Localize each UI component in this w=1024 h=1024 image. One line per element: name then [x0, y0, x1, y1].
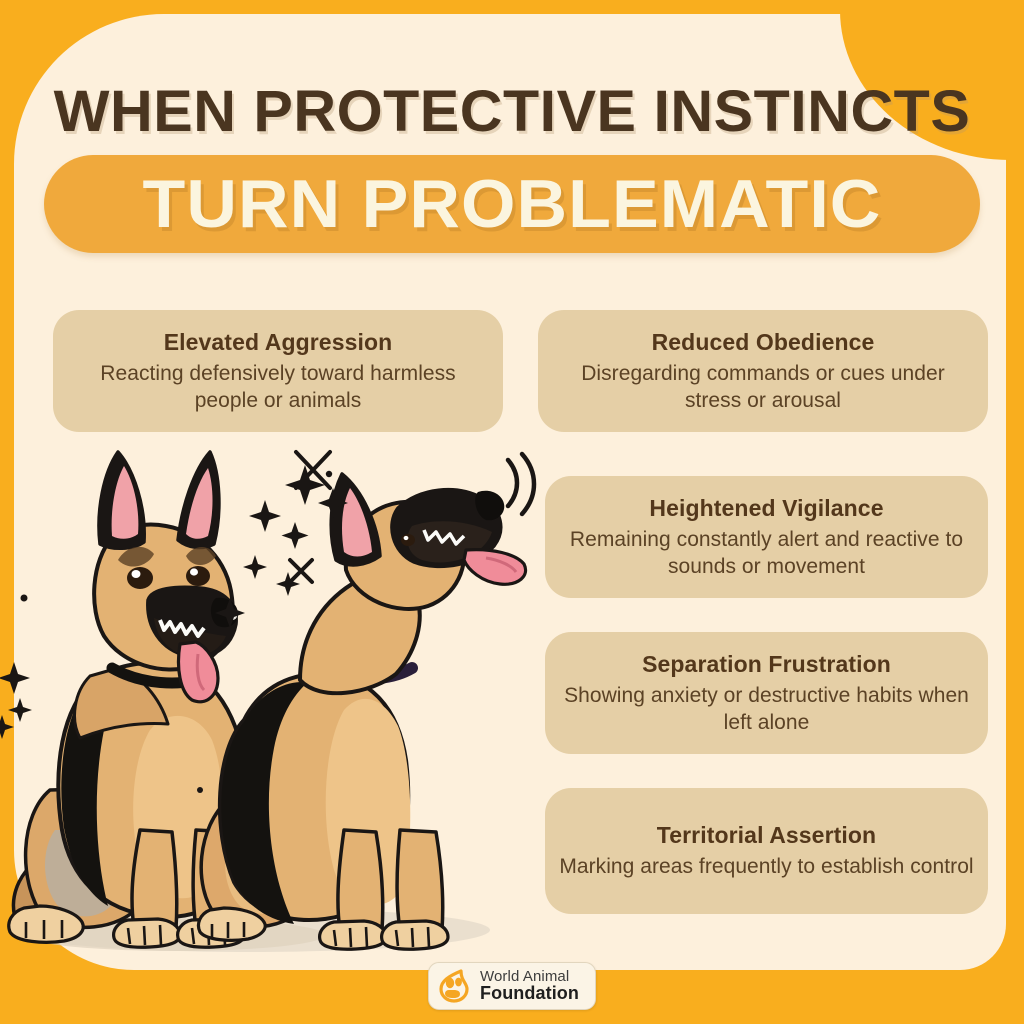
info-card-reduced-obedience[interactable]: Reduced Obedience Disregarding commands …	[538, 310, 988, 432]
card-description: Showing anxiety or destructive habits wh…	[559, 682, 974, 737]
card-description: Remaining constantly alert and reactive …	[559, 526, 974, 581]
info-card-heightened-vigilance[interactable]: Heightened Vigilance Remaining constantl…	[545, 476, 988, 598]
page-title-line2: TURN PROBLEMATIC	[30, 155, 994, 253]
dog-right	[198, 474, 525, 949]
info-card-elevated-aggression[interactable]: Elevated Aggression Reacting defensively…	[53, 310, 503, 432]
logo-line-1: World Animal	[480, 969, 579, 985]
orange-frame: WHEN PROTECTIVE INSTINCTS TURN PROBLEMAT…	[0, 0, 1024, 1024]
world-animal-foundation-logo[interactable]: World Animal Foundation	[428, 962, 596, 1010]
logo-line-2: Foundation	[480, 984, 579, 1003]
card-description: Disregarding commands or cues under stre…	[552, 360, 974, 415]
info-card-territorial-assertion[interactable]: Territorial Assertion Marking areas freq…	[545, 788, 988, 914]
card-title: Heightened Vigilance	[649, 494, 883, 523]
two-german-shepherd-dogs-illustration	[0, 430, 545, 975]
card-title: Separation Frustration	[642, 650, 891, 679]
card-description: Reacting defensively toward harmless peo…	[67, 360, 489, 415]
bark-motion-lines	[508, 454, 534, 514]
card-description: Marking areas frequently to establish co…	[559, 853, 973, 880]
page-title-line1: WHEN PROTECTIVE INSTINCTS	[0, 78, 1024, 145]
card-title: Territorial Assertion	[657, 821, 876, 850]
dog-paw-logo-icon	[439, 969, 471, 1003]
title-highlight-band: TURN PROBLEMATIC	[44, 155, 980, 253]
card-title: Reduced Obedience	[652, 328, 875, 357]
info-card-separation-frustration[interactable]: Separation Frustration Showing anxiety o…	[545, 632, 988, 754]
card-title: Elevated Aggression	[164, 328, 393, 357]
